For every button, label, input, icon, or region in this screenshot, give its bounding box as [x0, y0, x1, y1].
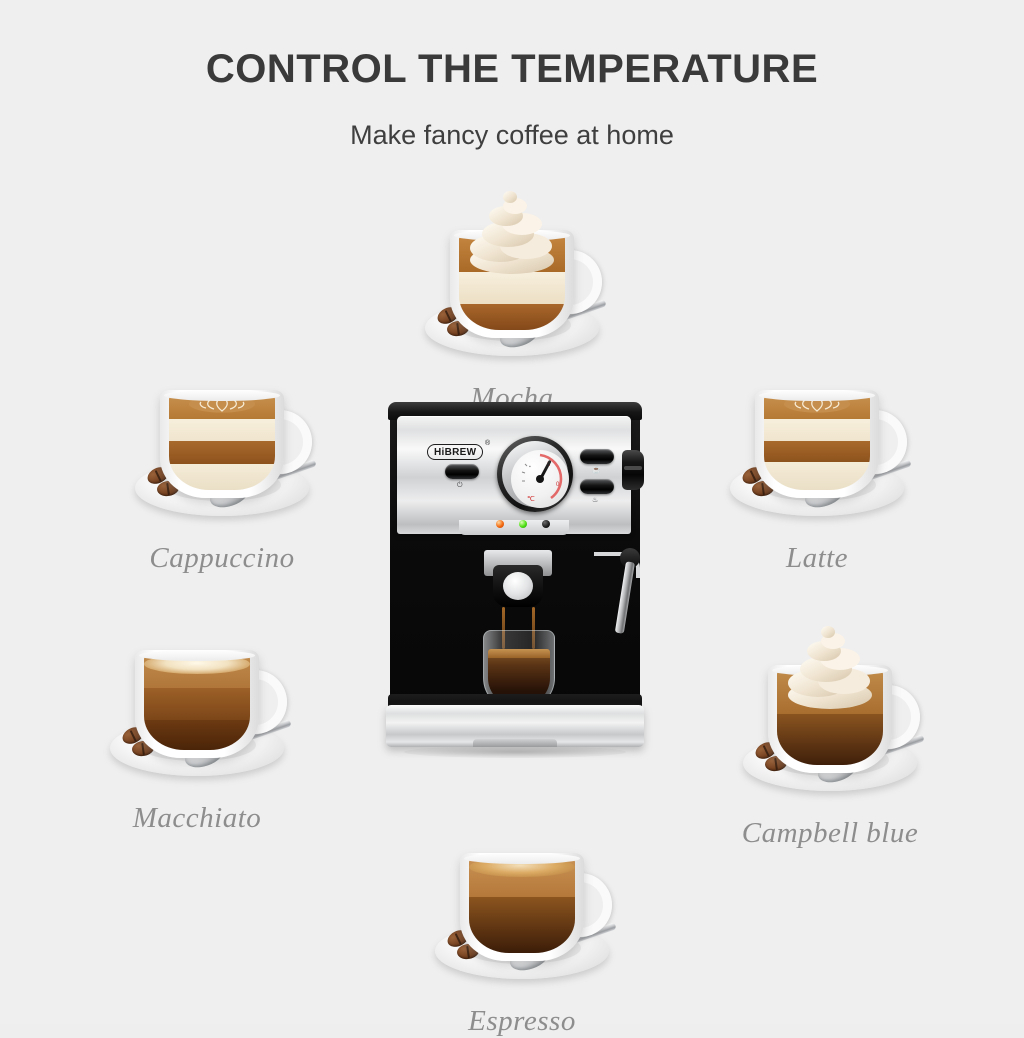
layer-coffee [169, 441, 275, 464]
two-cup-button[interactable] [580, 479, 614, 494]
layer-dark [777, 714, 883, 765]
drink-espresso: Espresso [417, 808, 627, 1038]
machine-shadow [404, 746, 626, 758]
layer-milk [459, 272, 565, 304]
steam-indicator [542, 520, 550, 528]
drink-campbell-blue: Campbell blue [725, 620, 935, 850]
cup [135, 650, 259, 758]
cup-body [160, 390, 284, 498]
macchiato-illustration [92, 605, 302, 790]
espresso-machine: HiBREW ® 3 0 [380, 402, 660, 762]
pressure-gauge: 3 0 ▪ ℃ [497, 436, 573, 512]
power-indicator [496, 520, 504, 528]
drink-latte: Latte [712, 345, 922, 575]
layer-milk [169, 419, 275, 442]
layer-milk-base [169, 464, 275, 490]
one-cup-button[interactable] [580, 449, 614, 464]
power-button[interactable] [445, 464, 479, 479]
cappuccino-illustration [117, 345, 327, 530]
layer-dark [144, 720, 250, 750]
svg-text:▪: ▪ [529, 464, 531, 470]
gauge-hub [536, 475, 544, 483]
layer-coffee-dark [459, 304, 565, 330]
drink-label-macchiato: Macchiato [92, 802, 302, 835]
page-subtitle: Make fancy coffee at home [0, 120, 1024, 151]
machine-control-panel: HiBREW ® 3 0 [397, 416, 631, 534]
drink-mocha: Mocha [407, 185, 617, 415]
cup-body [755, 390, 879, 498]
whipped-cream-icon [460, 188, 564, 274]
espresso-illustration [417, 808, 627, 993]
whipped-cream-icon [778, 623, 882, 709]
page-title: CONTROL THE TEMPERATURE [0, 47, 1024, 92]
campbell-blue-illustration [725, 620, 935, 805]
drink-macchiato: Macchiato [92, 605, 302, 835]
ready-indicator [519, 520, 527, 528]
brand-logo: HiBREW [427, 444, 483, 460]
layer-coffee [764, 441, 870, 462]
portafilter[interactable] [493, 565, 543, 607]
gauge-unit-label: ℃ [527, 495, 535, 503]
drip-tray [386, 705, 644, 747]
cup-rim [464, 853, 580, 864]
cup-body [460, 853, 584, 961]
layer-dark [469, 897, 575, 953]
steam-icon: ♨ [592, 496, 598, 504]
cup-rim [139, 650, 255, 661]
portafilter-disc [503, 572, 533, 600]
mocha-illustration [407, 185, 617, 370]
cup [160, 390, 284, 498]
indicator-lights [496, 520, 558, 530]
cup-rim [759, 390, 875, 401]
drink-label-espresso: Espresso [417, 1005, 627, 1038]
latte-illustration [712, 345, 922, 530]
trademark-symbol: ® [485, 440, 490, 447]
cup [460, 853, 584, 961]
layer-milk [764, 419, 870, 442]
gauge-face: 3 0 ▪ ℃ [511, 450, 569, 508]
drink-cappuccino: Cappuccino [117, 345, 327, 575]
layer-brown [144, 688, 250, 720]
steam-knob[interactable] [622, 450, 644, 490]
cup-rim [164, 390, 280, 401]
cup [755, 390, 879, 498]
power-icon: ⏻ [457, 482, 463, 490]
infographic-canvas: CONTROL THE TEMPERATURE Make fancy coffe… [0, 0, 1024, 1024]
drink-label-latte: Latte [712, 542, 922, 575]
gauge-bezel: 3 0 ▪ ℃ [502, 441, 568, 507]
drink-label-campbell-blue: Campbell blue [725, 817, 935, 850]
drink-label-cappuccino: Cappuccino [117, 542, 327, 575]
layer-milk-base [764, 462, 870, 490]
cup-body [135, 650, 259, 758]
one-cup-icon: ☕ [592, 466, 601, 474]
